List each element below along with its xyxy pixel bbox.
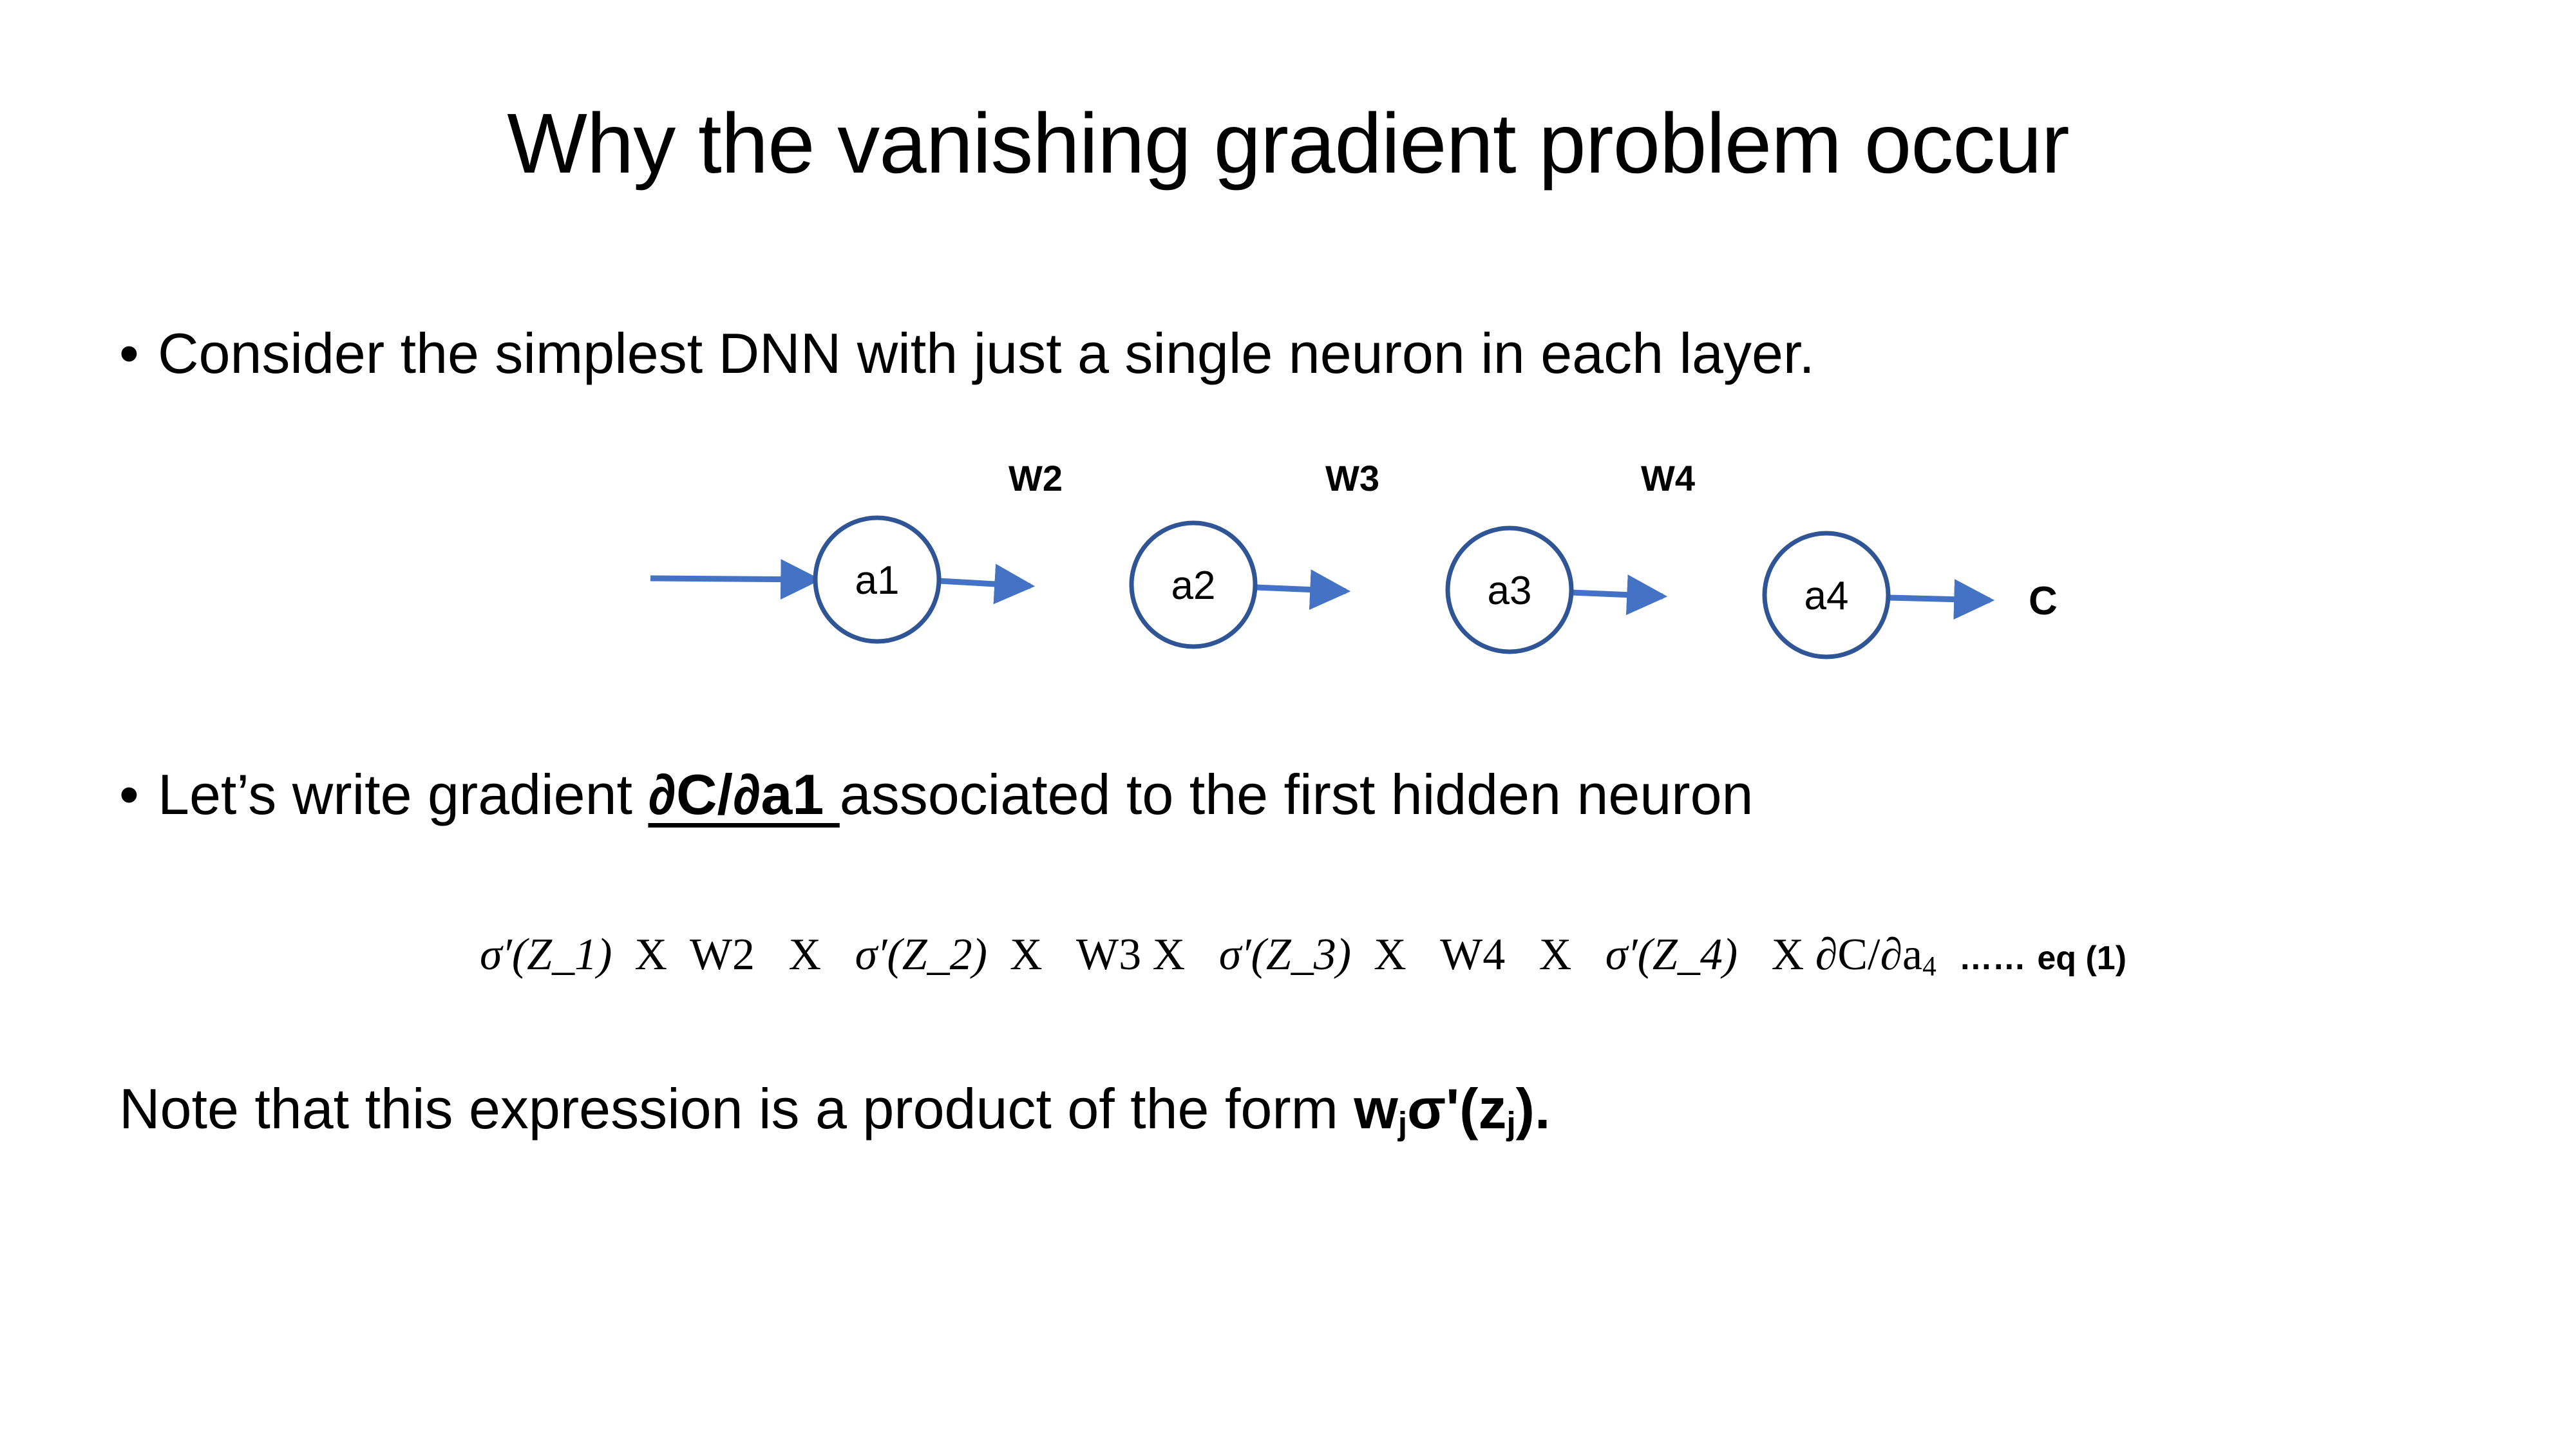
gradient-expression-emphasis: ∂C/∂a1 bbox=[648, 762, 839, 826]
note-formula: wjσʹ(zj). bbox=[1354, 1077, 1550, 1141]
bullet-text-2: Let’s write gradient ∂C/∂a1 associated t… bbox=[158, 766, 1753, 823]
bullet-marker-icon: • bbox=[119, 325, 158, 382]
note-prefix: Note that this expression is a product o… bbox=[119, 1077, 1354, 1141]
eq-sigma-z1: σ′(Z_1) bbox=[480, 930, 612, 980]
eq-sigma-z4: σ′(Z_4) bbox=[1605, 930, 1738, 980]
arrow-a1-a2 bbox=[939, 581, 1030, 586]
equation-eq1: σ′(Z_1) X W2 X σ′(Z_2) X W3 X σ′(Z_3) X … bbox=[480, 933, 2126, 981]
eq-operator-2: X bbox=[789, 930, 822, 980]
arrow-input bbox=[650, 578, 817, 580]
bullet-item-2: • Let’s write gradient ∂C/∂a1 associated… bbox=[119, 766, 1753, 823]
node-a2-label: a2 bbox=[1171, 563, 1216, 608]
eq-operator-4: X bbox=[1153, 930, 1186, 980]
eq-dots: …… bbox=[1959, 940, 2026, 977]
gradient-sentence-suffix: associated to the first hidden neuron bbox=[840, 762, 1754, 826]
note-z-subscript: j bbox=[1506, 1105, 1515, 1142]
bullet-item-1: • Consider the simplest DNN with just a … bbox=[119, 325, 1815, 382]
gradient-sentence-prefix: Let’s write gradient bbox=[158, 762, 648, 826]
eq-operator-1: X bbox=[634, 930, 667, 980]
node-a4: a4 bbox=[1765, 533, 1888, 657]
bullet-marker-icon: • bbox=[119, 766, 158, 823]
note-suffix: ). bbox=[1516, 1077, 1551, 1141]
node-a4-label: a4 bbox=[1804, 574, 1849, 618]
eq-operator-6: X bbox=[1539, 930, 1572, 980]
node-a2: a2 bbox=[1132, 523, 1255, 647]
closing-note: Note that this expression is a product o… bbox=[119, 1081, 1550, 1140]
arrow-a4-output bbox=[1888, 598, 1990, 600]
node-a3: a3 bbox=[1448, 528, 1571, 652]
weight-label-w2: W2 bbox=[1009, 458, 1063, 498]
node-a3-label: a3 bbox=[1488, 569, 1532, 613]
weight-label-w4: W4 bbox=[1641, 458, 1695, 498]
page-title: Why the vanishing gradient problem occur bbox=[0, 97, 2576, 190]
arrow-a2-a3 bbox=[1256, 587, 1346, 591]
node-a1-label: a1 bbox=[855, 558, 900, 603]
bullet-text-1: Consider the simplest DNN with just a si… bbox=[158, 325, 1815, 382]
neural-network-diagram: a1 a2 a3 a4 W2 W3 W4 C bbox=[612, 464, 2190, 638]
weight-label-w3: W3 bbox=[1325, 458, 1379, 498]
eq-sigma-z3: σ′(Z_3) bbox=[1219, 930, 1351, 980]
eq-weight-w3: W3 bbox=[1076, 930, 1141, 980]
note-w: w bbox=[1354, 1077, 1397, 1141]
output-label-c: C bbox=[2029, 579, 2058, 623]
eq-weight-w2: W2 bbox=[690, 930, 755, 980]
arrow-a3-a4 bbox=[1571, 592, 1663, 596]
node-a1: a1 bbox=[815, 518, 939, 641]
note-w-subscript: j bbox=[1398, 1105, 1407, 1142]
note-sigma: σʹ(z bbox=[1407, 1077, 1506, 1141]
eq-sigma-z2: σ′(Z_2) bbox=[855, 930, 987, 980]
eq-partial-dc-da: ∂C/∂a bbox=[1815, 930, 1922, 980]
eq-operator-5: X bbox=[1374, 930, 1406, 980]
eq-operator-3: X bbox=[1010, 930, 1043, 980]
eq-partial-subscript: 4 bbox=[1922, 951, 1937, 982]
eq-number-tag: eq (1) bbox=[2037, 940, 2126, 977]
eq-operator-7: X bbox=[1772, 930, 1804, 980]
eq-weight-w4: W4 bbox=[1440, 930, 1505, 980]
